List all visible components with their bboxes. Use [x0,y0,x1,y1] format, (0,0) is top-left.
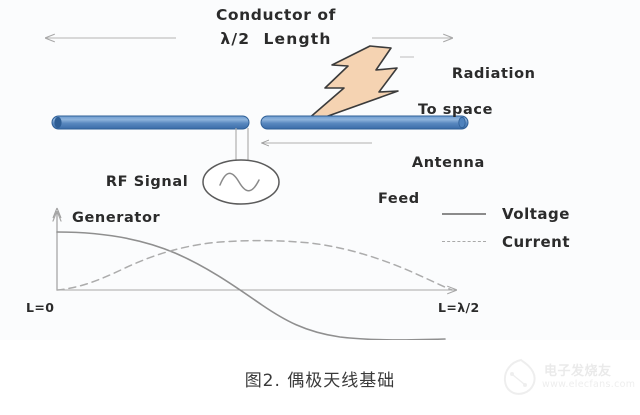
label-conductor-line1: Conductor of [186,6,366,25]
conductor-bar-left [52,116,249,129]
lightning-bolt-icon [300,46,398,126]
rf-signal-generator-icon [203,160,279,204]
watermark: 电子发烧友 www.elecfans.com [500,352,632,406]
label-radiation-line2: To space [418,101,536,119]
legend-swatch-dashed-icon [440,236,488,248]
label-rf-generator-line2: Generator [72,209,188,227]
x-axis-tick-start: L=0 [26,300,54,316]
watermark-url: www.elecfans.com [542,379,635,390]
figure-panel: Conductor of λ/2 Length Radiation To spa… [0,0,640,340]
watermark-text: 电子发烧友 [544,360,612,379]
label-radiation-line1: Radiation [452,66,536,82]
legend-swatch-solid-icon [440,208,488,220]
label-rf-generator: RF Signal Generator [72,155,188,264]
figure-page: Conductor of λ/2 Length Radiation To spa… [0,0,640,415]
legend-item-current: Current [440,228,620,256]
legend-label-voltage: Voltage [502,205,570,223]
label-conductor-line2: λ/2 Length [186,30,366,49]
watermark-logo-icon [500,354,542,398]
chart-legend: Voltage Current [440,200,620,256]
label-antenna-feed-line1: Antenna [412,155,485,171]
label-rf-generator-line1: RF Signal [106,174,188,190]
x-axis-tick-end: L=λ/2 [438,300,480,316]
legend-item-voltage: Voltage [440,200,620,228]
legend-label-current: Current [502,233,570,251]
